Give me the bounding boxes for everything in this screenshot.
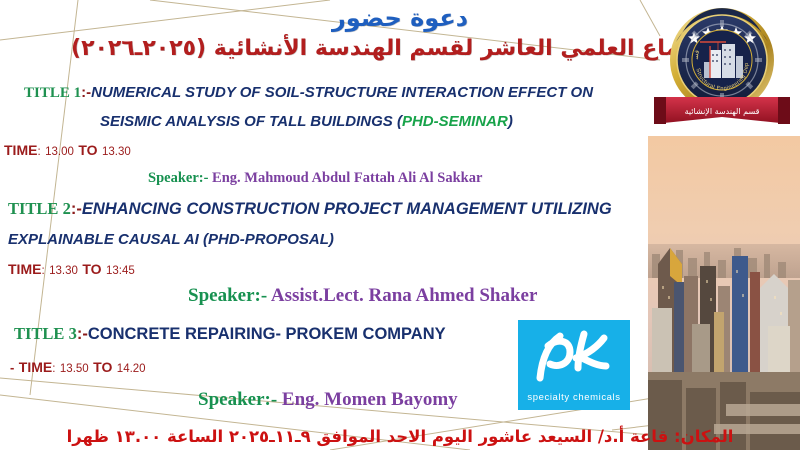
session-2-title-text-2: EXPLAINABLE CAUSAL AI — [8, 231, 199, 248]
session-2-speaker-label: Speaker:- — [188, 285, 267, 306]
session-1-speaker-name: Eng. Mahmoud Abdul Fattah Ali Al Sakkar — [212, 170, 482, 186]
session-1-time-start: 13.00 — [45, 146, 74, 158]
session-2-label: TITLE 2 — [8, 199, 71, 218]
session-3-title-text-1: CONCRETE REPAIRING- PROKEM COMPANY — [88, 325, 446, 343]
pk-wordmark-icon — [518, 322, 630, 388]
session-2-colon: :- — [71, 200, 82, 218]
session-1-title-line-2: SEISMIC ANALYSIS OF TALL BUILDINGS (PHD-… — [100, 113, 513, 130]
session-3-time-dash: - — [10, 360, 14, 375]
session-1-kind-close: ) — [508, 113, 513, 130]
session-3-speaker-label: Speaker:- — [198, 389, 277, 410]
session-1-label: TITLE 1 — [24, 85, 81, 101]
session-2-title-text-1: ENHANCING CONSTRUCTION PROJECT MANAGEMEN… — [82, 200, 612, 218]
session-3-time: - TIME: 13.50 TO 14.20 — [10, 359, 146, 377]
session-2-title-line-1: TITLE 2:-ENHANCING CONSTRUCTION PROJECT … — [8, 199, 612, 219]
pk-company-logo: specialty chemicals — [518, 320, 630, 410]
department-badge-art: Structural Engineering Dept. قسم الهندسة… — [652, 2, 792, 134]
session-1-time-end: 13.30 — [102, 146, 131, 158]
session-2-time-start: 13.30 — [49, 265, 78, 277]
location-footer-arabic: المكان: قاعة أ.د/ السيعد عاشور اليوم الا… — [0, 427, 800, 446]
pk-logo-caption: specialty chemicals — [527, 392, 620, 410]
session-2-time: TIME: 13.30 TO 13:45 — [8, 261, 135, 279]
session-2-speaker: Speaker:- Assist.Lect. Rana Ahmed Shaker — [188, 285, 537, 307]
poster-canvas: Structural Engineering Dept. قسم الهندسة… — [0, 0, 800, 450]
session-1-time-word: TIME — [4, 142, 37, 158]
session-2-time-colon: : — [41, 265, 44, 277]
session-1-time-to: TO — [78, 142, 97, 158]
session-3-time-end: 14.20 — [117, 363, 146, 375]
session-1-title-line-1: TITLE 1:-NUMERICAL STUDY OF SOIL-STRUCTU… — [24, 84, 593, 102]
department-badge: Structural Engineering Dept. قسم الهندسة… — [652, 2, 792, 134]
session-2-kind-close: ) — [329, 231, 334, 248]
session-3-speaker: Speaker:- Eng. Momen Bayomy — [198, 389, 458, 411]
session-1-colon: :- — [81, 84, 91, 101]
session-2-title-line-2: EXPLAINABLE CAUSAL AI (PHD-PROPOSAL) — [8, 231, 334, 248]
session-1-kind: PHD-SEMINAR — [402, 113, 508, 130]
session-2-kind: PHD-PROPOSAL — [208, 231, 329, 248]
session-3-time-colon: : — [52, 363, 55, 375]
session-1-speaker: Speaker:- Eng. Mahmoud Abdul Fattah Ali … — [148, 170, 482, 187]
session-3-label: TITLE 3 — [14, 324, 77, 343]
session-2-time-end: 13:45 — [106, 265, 135, 277]
session-2-speaker-name: Assist.Lect. Rana Ahmed Shaker — [271, 285, 538, 306]
session-1-title-text-1: NUMERICAL STUDY OF SOIL-STRUCTURE INTERA… — [91, 84, 593, 101]
session-1-title-text-2: SEISMIC ANALYSIS OF TALL BUILDINGS — [100, 113, 393, 130]
session-3-title-line-1: TITLE 3:-CONCRETE REPAIRING- PROKEM COMP… — [14, 324, 446, 344]
session-3-time-start: 13.50 — [60, 363, 89, 375]
session-2-time-word: TIME — [8, 261, 41, 277]
session-1-speaker-label: Speaker:- — [148, 170, 208, 186]
session-3-time-to: TO — [93, 359, 112, 375]
session-1-time: TIME: 13.00 TO 13.30 — [4, 142, 131, 160]
session-3-time-word: TIME — [19, 359, 52, 375]
session-2-time-to: TO — [82, 261, 101, 277]
session-3-speaker-name: Eng. Momen Bayomy — [282, 389, 458, 410]
session-1-time-colon: : — [37, 146, 40, 158]
session-3-colon: :- — [77, 325, 88, 343]
badge-ribbon-label: قسم الهندسة الإنشائية — [685, 107, 760, 117]
